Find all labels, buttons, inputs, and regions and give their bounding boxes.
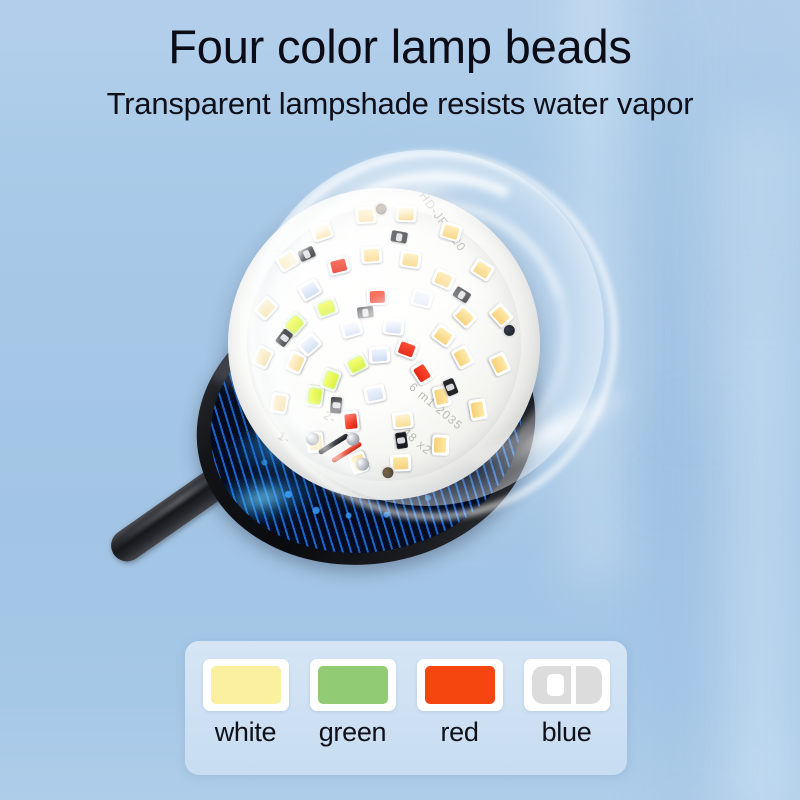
board-shading <box>229 189 539 499</box>
led-bead <box>360 246 382 264</box>
heading-block: Four color lamp beads Transparent lampsh… <box>0 0 800 121</box>
legend-label-red: red <box>415 718 504 748</box>
led-bead <box>390 454 412 472</box>
led-bead <box>367 288 389 306</box>
page-title: Four color lamp beads <box>0 0 800 73</box>
page-subtitle: Transparent lampshade resists water vapo… <box>0 73 800 121</box>
swatch-white <box>211 666 281 704</box>
resistor-component <box>330 397 342 414</box>
swatch-card <box>524 659 610 711</box>
led-bead <box>399 250 422 270</box>
resistor-component <box>357 306 374 319</box>
swatch-card <box>310 659 396 711</box>
legend-label-blue: blue <box>522 718 611 748</box>
swatch-card <box>417 659 503 711</box>
legend-item-red: red <box>415 659 504 748</box>
resistor-component <box>395 432 408 449</box>
led-bead <box>468 398 488 422</box>
led-bead <box>395 205 417 223</box>
led-bead <box>391 411 414 430</box>
swatch-green <box>318 666 388 704</box>
legend-label-white: white <box>201 718 290 748</box>
color-legend-panel: white green red blue <box>185 641 627 775</box>
legend-item-blue: blue <box>522 659 611 748</box>
swatch-red <box>425 666 495 704</box>
led-bead <box>269 391 289 415</box>
swatch-blue <box>532 666 602 704</box>
led-bead <box>341 410 360 433</box>
product-image: Four color lamp beads Transparent lampsh… <box>0 0 800 800</box>
led-bead <box>368 346 390 364</box>
led-bead <box>432 434 450 456</box>
swatch-card <box>203 659 289 711</box>
legend-item-white: white <box>201 659 290 748</box>
legend-item-green: green <box>308 659 397 748</box>
legend-label-green: green <box>308 718 397 748</box>
led-bead <box>382 317 405 336</box>
led-bead <box>355 206 377 224</box>
